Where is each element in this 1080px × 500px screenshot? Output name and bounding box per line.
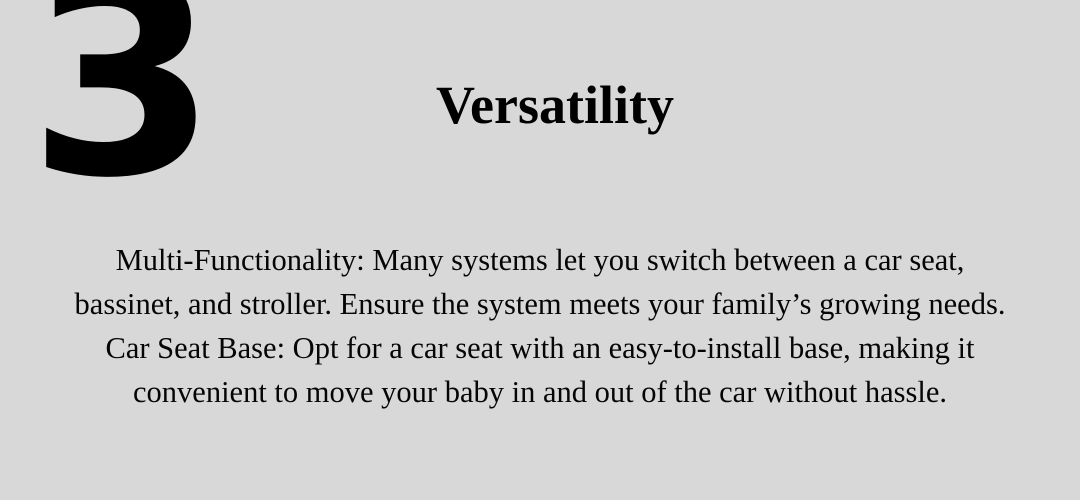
body-line: bassinet, and stroller. Ensure the syste… [24,282,1056,326]
body-line: convenient to move your baby in and out … [24,370,1056,414]
page-title: Versatility [300,74,810,136]
body-text-block: Multi-Functionality: Many systems let yo… [24,238,1056,414]
header-band: 3 Versatility [0,0,1080,222]
step-number: 3 [28,0,213,216]
body-line: Car Seat Base: Opt for a car seat with a… [24,326,1056,370]
body-line: Multi-Functionality: Many systems let yo… [24,238,1056,282]
slide-root: 3 Versatility Multi-Functionality: Many … [0,0,1080,500]
